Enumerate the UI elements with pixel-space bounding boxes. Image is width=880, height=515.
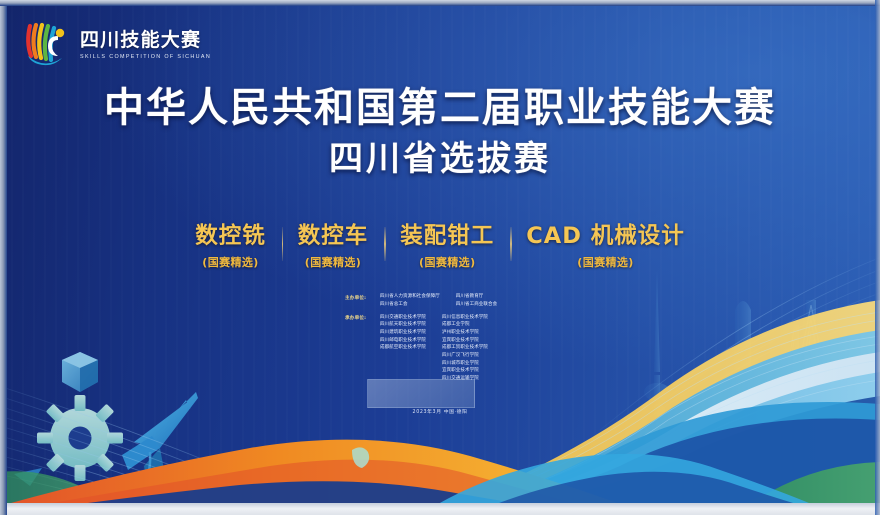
organizer-column-2: 四川信息职业技术学院 成都工业学院 泸州职业技术学院 宜宾职业技术学院 成都工贸… — [442, 315, 488, 382]
category-sub: (国赛精选) — [526, 254, 684, 270]
host-label: 主办单位: — [345, 294, 380, 308]
title-line-1: 中华人民共和国第二届职业技能大赛 — [0, 86, 880, 131]
organizer-org: 四川信息职业技术学院 — [442, 315, 488, 321]
category-item: 装配钳工 (国赛精选) — [384, 224, 510, 270]
organizer-org: 四川邮电职业技术学院 — [380, 338, 426, 344]
organizer-org: 宜宾职业技术学院 — [442, 338, 488, 344]
organizer-org: 泸州职业技术学院 — [442, 330, 488, 336]
credits-block: 主办单位: 四川省人力资源和社会保障厅 四川省总工会 四川省教育厅 四川省工商业… — [345, 294, 545, 389]
organizer-group: 承办单位: 四川交通职业技术学院 四川航天职业技术学院 四川建筑职业技术学院 四… — [345, 315, 545, 382]
organizer-org: 四川建筑职业技术学院 — [380, 330, 426, 336]
organizer-label: 承办单位: — [345, 315, 380, 382]
frame-edge-right — [875, 0, 880, 515]
category-item: CAD 机械设计 (国赛精选) — [510, 224, 700, 270]
event-logo: 四川技能大赛 SKILLS COMPETITION OF SICHUAN — [18, 13, 178, 75]
host-column-2: 四川省教育厅 四川省工商业联合会 — [456, 294, 497, 308]
frame-edge-bottom — [0, 504, 880, 515]
category-sub: (国赛精选) — [298, 254, 369, 270]
sichuan-skills-swoosh-icon — [18, 16, 74, 72]
host-column-1: 四川省人力资源和社会保障厅 四川省总工会 — [380, 294, 440, 308]
category-sub: (国赛精选) — [195, 254, 266, 270]
organizer-org: 成都工贸职业技术学院 — [442, 345, 488, 351]
host-org: 四川省人力资源和社会保障厅 — [380, 294, 440, 300]
host-org: 四川省教育厅 — [456, 294, 497, 300]
host-org: 四川省工商业联合会 — [456, 302, 497, 308]
category-sub: (国赛精选) — [400, 254, 494, 270]
organizer-org: 宜宾职业技术学院 — [442, 368, 488, 374]
category-item: 数控车 (国赛精选) — [282, 224, 385, 270]
organizer-org: 四川广汉飞行学院 — [442, 353, 488, 359]
category-item: 数控铣 (国赛精选) — [179, 224, 282, 270]
frame-edge-left — [0, 0, 7, 515]
category-list: 数控铣 (国赛精选) 数控车 (国赛精选) 装配钳工 (国赛精选) CAD 机械… — [0, 224, 880, 270]
main-title-block: 中华人民共和国第二届职业技能大赛 四川省选拔赛 — [0, 86, 880, 178]
category-name: CAD 机械设计 — [526, 224, 684, 250]
host-group: 主办单位: 四川省人力资源和社会保障厅 四川省总工会 四川省教育厅 四川省工商业… — [345, 294, 545, 308]
organizer-org: 四川交通职业技术学院 — [380, 315, 426, 321]
organizer-org: 四川航天职业技术学院 — [380, 322, 426, 328]
logo-title-en: SKILLS COMPETITION OF SICHUAN — [80, 54, 211, 60]
organizer-org: 四川城市职业学院 — [442, 361, 488, 367]
date-location-text: 2023年3月 中国·德阳 — [0, 408, 880, 415]
poster-backdrop: 四川技能大赛 SKILLS COMPETITION OF SICHUAN 中华人… — [0, 0, 880, 515]
logo-title-cn: 四川技能大赛 — [80, 31, 211, 50]
category-name: 装配钳工 — [400, 224, 494, 250]
host-org: 四川省总工会 — [380, 302, 440, 308]
organizer-column-1: 四川交通职业技术学院 四川航天职业技术学院 四川建筑职业技术学院 四川邮电职业技… — [380, 315, 426, 382]
category-name: 数控铣 — [195, 224, 266, 250]
organizer-org: 成都航空职业技术学院 — [380, 345, 426, 351]
title-line-2: 四川省选拔赛 — [0, 140, 880, 178]
organizer-org: 四川交通运输学院 — [442, 376, 488, 382]
category-name: 数控车 — [298, 224, 369, 250]
frame-edge-top — [0, 0, 880, 6]
organizer-org: 成都工业学院 — [442, 322, 488, 328]
